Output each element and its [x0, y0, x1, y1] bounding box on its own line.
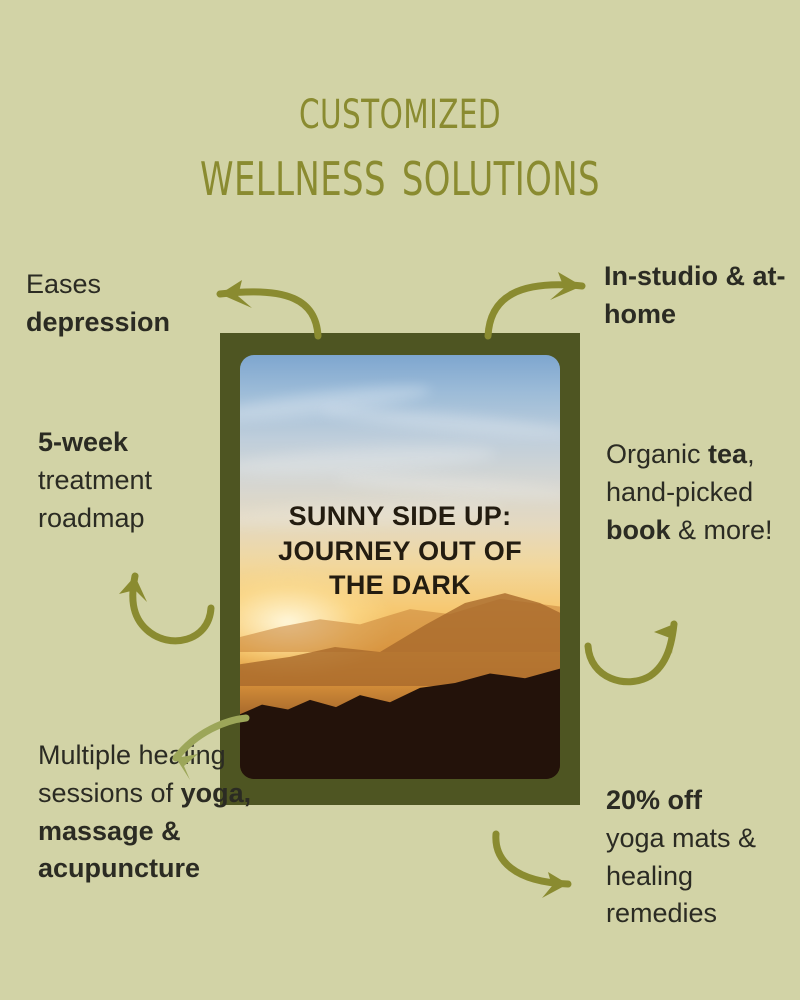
arrow-to-goodies-icon	[586, 606, 706, 716]
book-cover-card: SUNNY SIDE UP: JOURNEY OUT OF THE DARK	[220, 333, 580, 805]
page-title-line-2: Wellness Solutions	[72, 142, 728, 205]
callout-text-regular: Eases	[26, 269, 101, 299]
callout-in-studio-at-home: In-studio & at-home	[604, 258, 794, 334]
callout-healing-sessions: Multiple healing sessions of yoga, massa…	[38, 737, 278, 888]
arrow-to-discount-icon	[470, 816, 610, 906]
page-title: Customized Wellness Solutions	[0, 82, 800, 205]
callout-text-bold: tea	[708, 439, 747, 469]
poster-canvas: Customized Wellness Solutions	[0, 0, 800, 1000]
callout-text-bold: book	[606, 515, 671, 545]
callout-discount-offer: 20% off yoga mats & healing remedies	[606, 782, 796, 933]
callout-treatment-roadmap: 5-week treatment roadmap	[38, 424, 238, 537]
callout-text-regular: Organic	[606, 439, 708, 469]
page-title-line-1: Customized	[72, 82, 728, 136]
sunset-photo: SUNNY SIDE UP: JOURNEY OUT OF THE DARK	[240, 355, 560, 779]
callout-eases-depression: Eases depression	[26, 266, 236, 342]
callout-text-bold: In-studio & at-home	[604, 261, 785, 329]
callout-text-regular: & more!	[671, 515, 773, 545]
callout-organic-goodies: Organic tea, hand-picked book & more!	[606, 436, 796, 549]
mountain-ridge-near	[240, 635, 560, 779]
callout-text-bold: 5-week	[38, 427, 128, 457]
callout-text-bold: depression	[26, 307, 170, 337]
cloud-wisp-icon	[320, 403, 560, 442]
callout-text-regular: yoga mats & healing remedies	[606, 823, 756, 929]
arrow-to-in-studio-icon	[482, 262, 612, 342]
callout-text-regular: treatment roadmap	[38, 465, 152, 533]
callout-text-bold: 20% off	[606, 785, 702, 815]
arrow-to-roadmap-icon	[105, 552, 225, 662]
book-cover-title: SUNNY SIDE UP: JOURNEY OUT OF THE DARK	[240, 499, 560, 603]
